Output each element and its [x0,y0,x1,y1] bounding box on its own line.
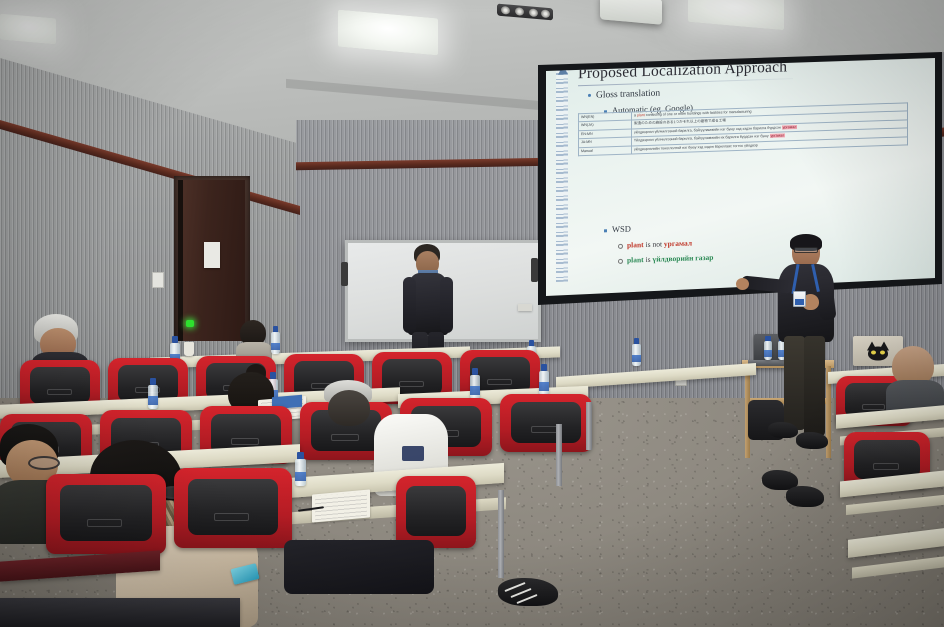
water-bottle [295,452,306,486]
cat-eye-icon [871,351,876,355]
seat-back-black [406,486,467,536]
bullet-circle-icon [618,259,623,264]
audience-leg [284,540,434,594]
cat-eye-icon [880,351,885,355]
wsd-connector: is not [644,239,664,249]
cat-head-icon [868,347,888,361]
audience-glasses [28,456,60,470]
bottle-label [271,343,280,350]
bottle-body [271,332,280,354]
whiteboard-marker-tray [518,304,532,311]
door-notice [204,242,220,268]
seat-back-black [60,485,151,541]
water-bottle [148,378,158,409]
seat[interactable] [500,394,592,452]
seat-hinge [214,513,249,521]
presenter [744,236,850,466]
highlighted-term: ургамал [782,125,798,130]
whiteboard-mount [531,258,538,282]
standing-attendee-arm [403,277,416,333]
ceiling-spotlight-bar [497,4,553,21]
sneaker [498,578,558,606]
bottle-body [539,371,549,395]
door-gap [178,180,183,341]
bullet-square-icon [604,229,607,232]
cat-icon [866,342,890,361]
projector-screen: Proposed Localization Approach Gloss tra… [546,58,935,296]
ceiling-light-panel [0,14,56,45]
bullet-circle-icon [618,244,623,249]
jacket-logo [402,446,424,461]
wsd-heading: WSD [612,224,631,235]
presenter-shoe [768,422,798,438]
slide-decorative-border [556,70,568,282]
presenter-leg [804,336,825,436]
presenter-shoe [796,432,828,449]
seat-hinge [531,426,559,433]
ceiling-projector [600,0,662,25]
seat-back-black [511,402,581,443]
bottle-label [148,396,158,404]
seat[interactable] [174,468,292,548]
seat[interactable] [396,476,476,548]
presentation-slide: Proposed Localization Approach Gloss tra… [556,58,928,290]
presenter-leg [784,336,805,430]
door-frame [174,176,250,341]
bullet-dot-icon [588,94,591,97]
bottle-body [148,385,158,409]
wsd-term: plant [627,240,644,250]
bottle-label [539,382,549,390]
bottle-body [295,459,306,486]
standing-attendee-arm [440,277,453,333]
ceiling-light-panel [688,0,784,30]
light-switch[interactable] [152,272,164,288]
wsd-value: ургамал [664,238,692,248]
water-bottle [271,326,280,354]
desk-leg [498,490,504,578]
green-status-led [186,320,194,327]
row-label: Manual [579,146,632,156]
seat-back-black [188,479,278,535]
wsd-line-1: plant is not ургамал [618,238,692,249]
presenter-shoe [786,486,824,507]
audience-head [328,390,370,426]
wsd-line-2: plant is үйлдворийн газар [618,253,713,265]
door[interactable] [178,180,245,341]
water-bottle [632,338,641,366]
paper-cup [184,342,194,356]
bottle-label [295,472,306,481]
seat-hinge [873,463,899,469]
slide-bullet-label: Gloss translation [596,89,660,101]
whiteboard-mount [341,262,348,286]
seat-hinge [487,379,511,385]
water-bottle [539,364,549,395]
seat-hinge [87,519,123,527]
seat[interactable] [46,474,166,554]
slide-bullet-wsd: WSD [604,224,631,235]
conference-badge [793,291,806,307]
keyword-plant: plant [637,113,645,117]
highlighted-term: ургамал [770,134,786,139]
desk-row [0,598,240,627]
desk-leg [556,424,562,486]
wsd-value: үйлдворийн газар [652,253,713,264]
desk-leg [586,402,592,450]
lecture-room-photo: Proposed Localization Approach Gloss tra… [0,0,944,627]
slide-bullet-gloss-translation: Gloss translation [588,89,660,101]
seat-hinge [47,389,71,395]
ceiling-light-panel [338,10,438,56]
wsd-term: plant [627,255,644,265]
seat-hinge [862,404,885,410]
seat-back-black [30,367,91,403]
bottle-label [632,355,641,362]
bottle-body [632,344,641,366]
